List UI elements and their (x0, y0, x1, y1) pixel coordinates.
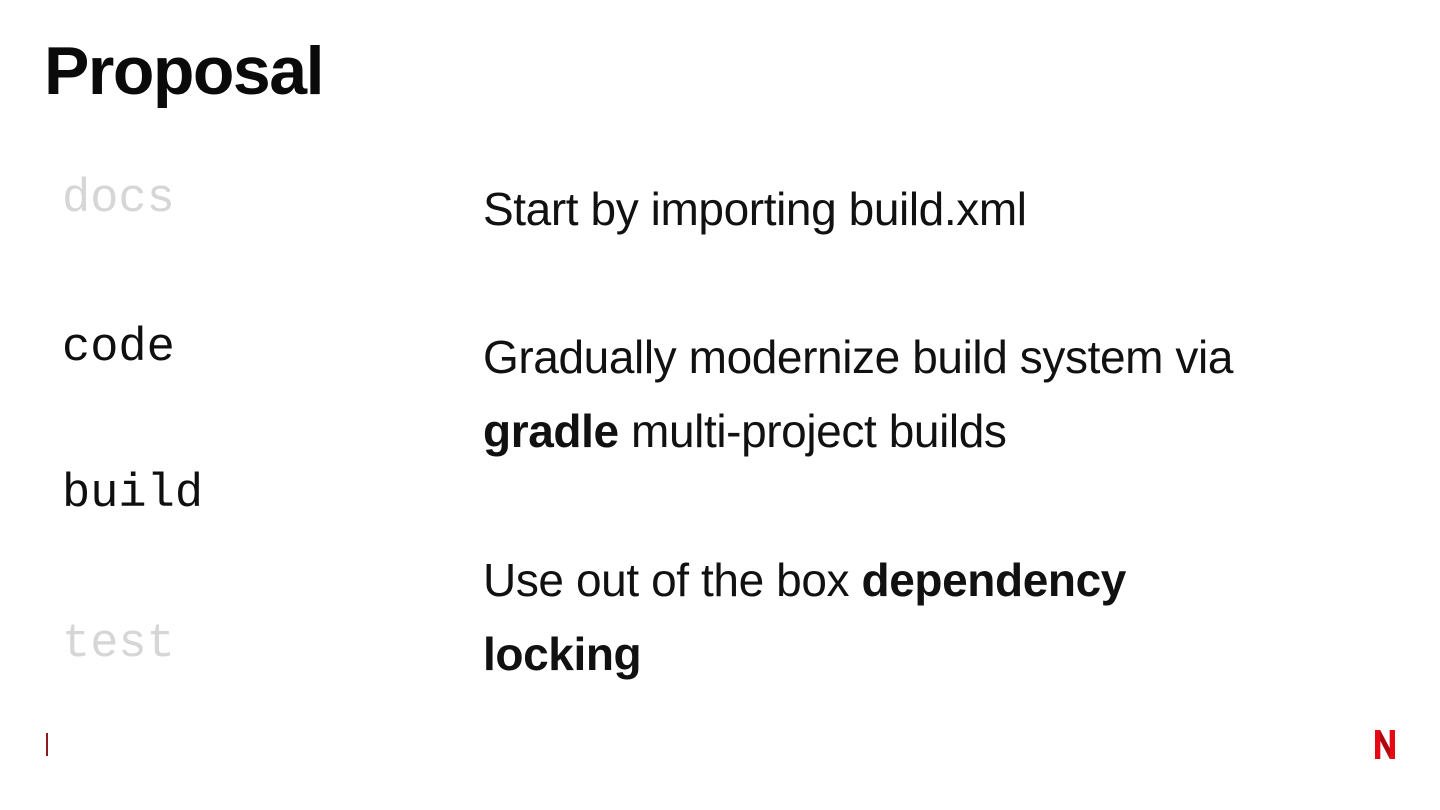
netflix-n-logo (1375, 730, 1395, 759)
proposal-point: Use out of the box dependency locking (483, 543, 1283, 691)
body-text: Gradually modernize build system via (483, 331, 1233, 383)
stage-label-build: build (62, 471, 203, 518)
page-title: Proposal (44, 37, 323, 105)
body-text: Start by importing build.xml (483, 183, 1027, 235)
emphasis-text: gradle (483, 405, 619, 457)
stage-label-docs: docs (62, 176, 175, 223)
proposal-point: Start by importing build.xml (483, 172, 1027, 246)
body-text: Use out of the box (483, 554, 862, 606)
proposal-point: Gradually modernize build system via gra… (483, 320, 1343, 468)
stage-label-test: test (62, 621, 175, 668)
corner-tick-mark (46, 733, 48, 756)
body-text: multi-project builds (619, 405, 1007, 457)
slide-canvas: Proposal docs code build test Start by i… (0, 0, 1440, 810)
stage-label-code: code (62, 325, 175, 372)
